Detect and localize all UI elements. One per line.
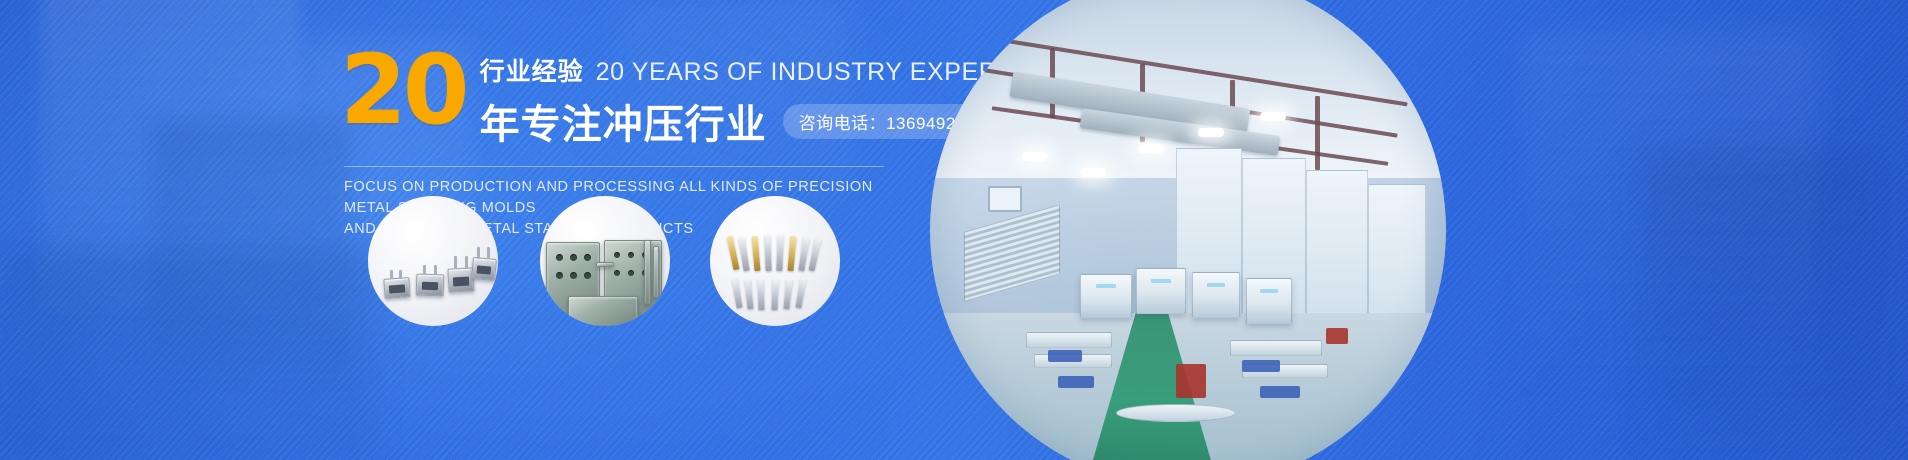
product-circle-connectors (368, 196, 498, 326)
product-circle-terminals (710, 196, 840, 326)
background-ghost-shape-4 (0, 250, 380, 460)
background-ghost-shape-6 (1520, 30, 1820, 410)
years-number: 20 (340, 46, 466, 134)
promo-banner: 20 行业经验 20 YEARS OF INDUSTRY EXPERIENCE … (0, 0, 1908, 460)
factory-workshop-photo (930, 0, 1446, 460)
experience-label-cn: 行业经验 (480, 52, 584, 88)
background-ghost-shape-1 (40, 0, 300, 310)
divider-rule (344, 166, 884, 167)
product-circle-mold-plates (540, 196, 670, 326)
headline-row: 20 行业经验 20 YEARS OF INDUSTRY EXPERIENCE … (340, 38, 900, 150)
background-ghost-shape-2 (150, 120, 350, 380)
background-ghost-shape-7 (1640, 150, 1880, 450)
main-slogan-cn: 年专注冲压行业 (480, 92, 767, 150)
